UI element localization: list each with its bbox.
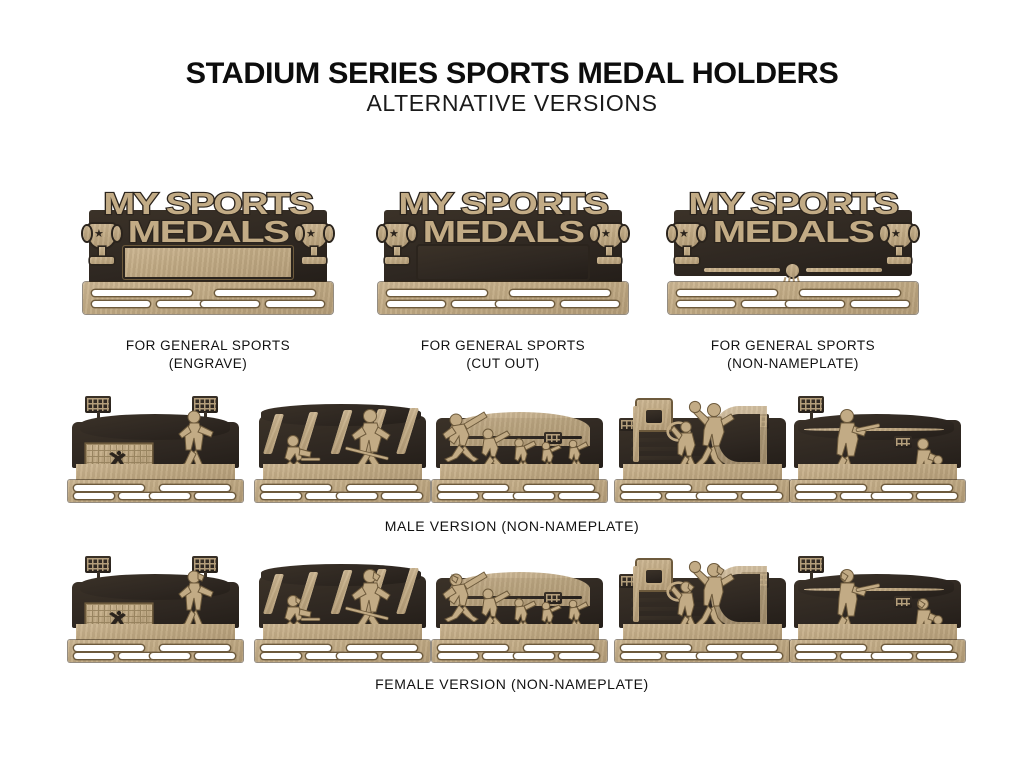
medal-slot [92, 290, 192, 296]
page-title: STADIUM SERIES SPORTS MEDAL HOLDERS [0, 57, 1024, 91]
backboard-inner-square [646, 410, 662, 423]
light-grid [87, 398, 109, 411]
medal-slot [74, 653, 114, 659]
medal-slot [266, 301, 324, 307]
medal-slot [160, 645, 230, 651]
medal-slot [337, 493, 377, 499]
medal-hook-bar [615, 480, 790, 502]
light-grid [800, 398, 822, 411]
medal-slot [697, 653, 737, 659]
medal-hook-bar [68, 640, 243, 662]
caption-general-cutout: FOR GENERAL SPORTS (CUT OUT) [353, 337, 653, 373]
wordmark-line-2: MEDALS [56, 214, 360, 250]
caption-female-row: FEMALE VERSION (NON-NAMEPLATE) [0, 676, 1024, 692]
medal-slot [510, 290, 610, 296]
wordmark: MY SPORTS MEDALS [386, 186, 620, 258]
ice-strip [263, 624, 422, 640]
medal-slot [261, 645, 331, 651]
medal-slot [382, 493, 422, 499]
medal-slot [382, 653, 422, 659]
medal-slot [438, 485, 508, 491]
infield-strip [798, 464, 957, 480]
ice-strip [263, 464, 422, 480]
light-grid [87, 558, 109, 571]
medal-slot [215, 290, 315, 296]
light-grid [800, 558, 822, 571]
medal-slot [786, 301, 844, 307]
medal-holder-male-basketball[interactable] [615, 392, 790, 502]
medal-holder-female-baseball[interactable] [790, 552, 965, 662]
field-strip [76, 624, 235, 640]
medal-holder-female-hockey[interactable] [255, 552, 430, 662]
medal-slot [150, 653, 190, 659]
caption-line-1: FOR GENERAL SPORTS [58, 337, 358, 355]
medal-slot [160, 485, 230, 491]
caption-line-2: (ENGRAVE) [58, 355, 358, 373]
medal-slot [872, 653, 912, 659]
medal-slot [677, 290, 777, 296]
medal-hook-bar [255, 480, 430, 502]
medal-slot [74, 645, 144, 651]
medal-slot [559, 493, 599, 499]
medal-slot [74, 493, 114, 499]
medal-holder-female-soccer[interactable] [68, 552, 243, 662]
medal-slot [261, 653, 301, 659]
medal-hook-bar [432, 480, 607, 502]
medal-slot [438, 645, 508, 651]
medal-slot [882, 485, 952, 491]
page-subtitle: ALTERNATIVE VERSIONS [0, 90, 1024, 117]
caption-line-1: FOR GENERAL SPORTS [353, 337, 653, 355]
wordmark-line-2: MEDALS [351, 214, 655, 250]
medal-slot [261, 485, 331, 491]
medal-holder-male-baseball[interactable] [790, 392, 965, 502]
medal-slot [621, 493, 661, 499]
backboard-post [633, 406, 639, 462]
medal-slot [387, 290, 487, 296]
medal-holder-male-track[interactable] [432, 392, 607, 502]
trophy-base [385, 257, 409, 264]
stadium-light-left [85, 556, 111, 573]
medal-slot [438, 653, 478, 659]
medal-hook-bar [378, 282, 628, 314]
medal-slot [796, 493, 836, 499]
medal-hook-bar [790, 640, 965, 662]
medal-slot [261, 493, 301, 499]
medal-hook-bar [68, 480, 243, 502]
medal-slot [796, 645, 866, 651]
medal-holder-general-engrave[interactable]: MY SPORTS MEDALS [83, 184, 333, 324]
medal-slot [74, 485, 144, 491]
medal-hook-bar [83, 282, 333, 314]
medal-slot [496, 301, 554, 307]
medal-slot [621, 485, 691, 491]
medal-slot [917, 493, 957, 499]
medal-slot [347, 645, 417, 651]
medal-hook-bar [432, 640, 607, 662]
medal-slot [796, 653, 836, 659]
medal-holder-female-basketball[interactable] [615, 552, 790, 662]
caption-general-engrave: FOR GENERAL SPORTS (ENGRAVE) [58, 337, 358, 373]
backboard-inner-square [646, 570, 662, 583]
backboard-post [633, 566, 639, 622]
medal-holder-general-non-nameplate[interactable]: MY SPORTS MEDALS [668, 184, 918, 324]
medal-ornament-disc [786, 264, 799, 277]
trophy-base [675, 257, 699, 264]
medal-slot [201, 301, 259, 307]
medal-slot [796, 485, 866, 491]
medal-slot [195, 653, 235, 659]
medal-slot [707, 645, 777, 651]
medal-slot [561, 301, 619, 307]
medal-slot [347, 485, 417, 491]
medal-slot [559, 653, 599, 659]
medal-hook-bar [668, 282, 918, 314]
medal-slot [917, 653, 957, 659]
trophy-base [597, 257, 621, 264]
soccer-player-figure-icon [172, 410, 218, 472]
medal-slot [621, 653, 661, 659]
medal-slot [438, 493, 478, 499]
medal-slot [707, 485, 777, 491]
medal-slot [742, 493, 782, 499]
caption-general-non-nameplate: FOR GENERAL SPORTS (NON-NAMEPLATE) [643, 337, 943, 373]
caption-line-2: (CUT OUT) [353, 355, 653, 373]
soccer-player-figure-icon [172, 570, 218, 632]
stadium-light [798, 556, 824, 573]
underline-right [806, 268, 882, 272]
medal-holder-female-track[interactable] [432, 552, 607, 662]
court-strip [623, 624, 782, 640]
medal-holder-general-cutout[interactable]: MY SPORTS MEDALS [378, 184, 628, 324]
medal-slot [851, 301, 909, 307]
medal-slot [677, 301, 735, 307]
caption-line-1: FOR GENERAL SPORTS [643, 337, 943, 355]
product-sheet: STADIUM SERIES SPORTS MEDAL HOLDERS ALTE… [0, 0, 1024, 768]
infield-strip [798, 624, 957, 640]
medal-slot [150, 493, 190, 499]
wordmark: MY SPORTS MEDALS [676, 186, 910, 258]
medal-slot [882, 645, 952, 651]
medal-slot [337, 653, 377, 659]
wordmark: MY SPORTS MEDALS [91, 186, 325, 258]
medal-holder-male-hockey[interactable] [255, 392, 430, 502]
medal-slot [621, 645, 691, 651]
stadium-light [798, 396, 824, 413]
medal-slot [742, 653, 782, 659]
medal-slot [92, 301, 150, 307]
track-strip [440, 464, 599, 480]
medal-slot [524, 485, 594, 491]
trophy-base [887, 257, 911, 264]
trophy-base [302, 257, 326, 264]
stadium-light-left [85, 396, 111, 413]
wordmark-line-2: MEDALS [641, 214, 945, 250]
medal-slot [195, 493, 235, 499]
caption-line-2: (NON-NAMEPLATE) [643, 355, 943, 373]
track-strip [440, 624, 599, 640]
medal-slot [514, 653, 554, 659]
medal-slot [387, 301, 445, 307]
medal-holder-male-soccer[interactable] [68, 392, 243, 502]
medal-slot [800, 290, 900, 296]
medal-hook-bar [615, 640, 790, 662]
court-strip [623, 464, 782, 480]
trophy-base [90, 257, 114, 264]
field-strip [76, 464, 235, 480]
medal-slot [697, 493, 737, 499]
medal-slot [524, 645, 594, 651]
medal-hook-bar [790, 480, 965, 502]
medal-slot [514, 493, 554, 499]
medal-hook-bar [255, 640, 430, 662]
medal-slot [872, 493, 912, 499]
underline-left [704, 268, 780, 272]
caption-male-row: MALE VERSION (NON-NAMEPLATE) [0, 518, 1024, 534]
